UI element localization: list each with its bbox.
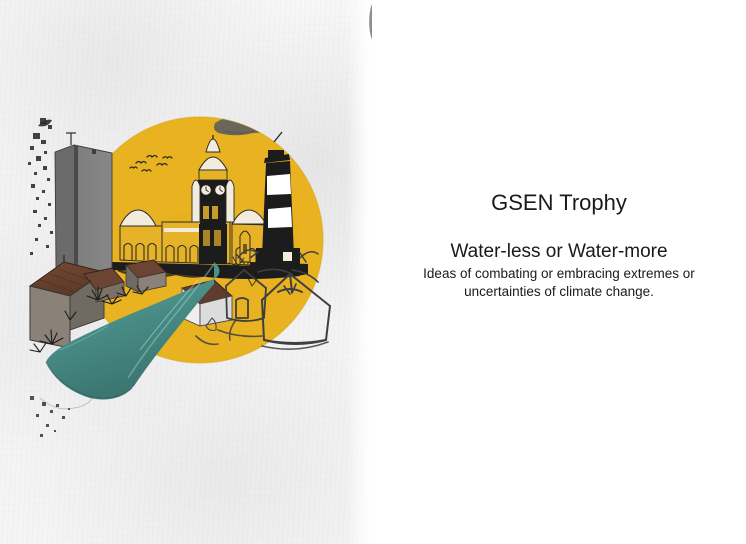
description-line-2: uncertainties of climate change. [372,283,746,301]
page-title: GSEN Trophy [372,190,746,216]
cloud [214,109,280,135]
grey-highrise-slab [55,133,112,272]
collage-illustration [0,0,372,544]
description-line-1: Ideas of combating or embracing extremes… [372,265,746,283]
bottom-ink-spatter [30,396,70,437]
ink-spatter-edge [28,118,53,255]
description-text: Ideas of combating or embracing extremes… [372,265,746,301]
wash-contour [40,396,94,409]
subtitle-block: Water-less or Water-more Ideas of combat… [372,241,746,302]
text-panel: GSEN Trophy Water-less or Water-more Ide… [372,0,746,544]
subtitle-heading: Water-less or Water-more [372,241,746,263]
illustration-panel [0,0,372,544]
presentation-slide: 04 GSEN Trophy Water-less or Water-more … [0,0,746,544]
